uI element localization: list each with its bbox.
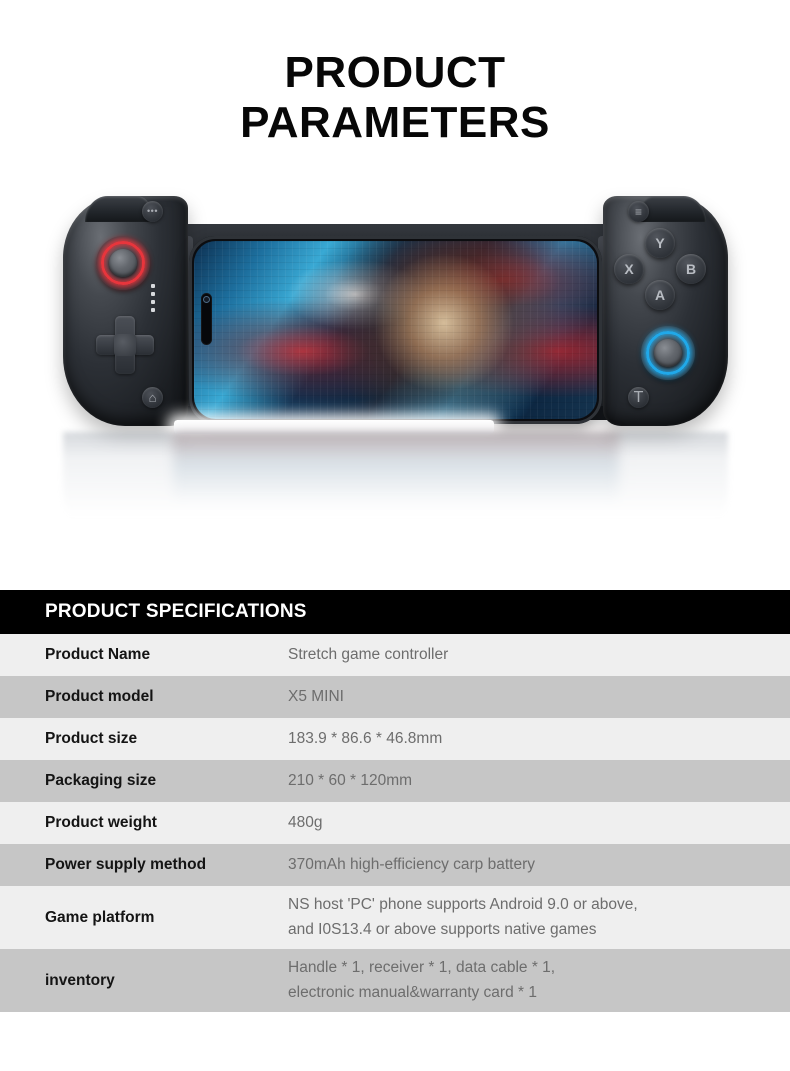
product-reflection — [63, 432, 728, 550]
spec-table-header: PRODUCT SPECIFICATIONS — [0, 590, 790, 634]
spec-value: X5 MINI — [288, 685, 344, 709]
spec-value-line: NS host 'PC' phone supports Android 9.0 … — [288, 893, 638, 917]
mounted-phone — [189, 236, 602, 424]
led-dot — [151, 292, 155, 296]
dpad-center — [114, 334, 136, 356]
spec-table-header-label: PRODUCT SPECIFICATIONS — [45, 601, 307, 623]
screen-pixel-overlay — [194, 241, 597, 419]
table-row: Packaging size 210 * 60 * 120mm — [0, 760, 790, 802]
spec-value-line: and I0S13.4 or above supports native gam… — [288, 918, 638, 942]
table-row: inventory Handle * 1, receiver * 1, data… — [0, 949, 790, 1012]
face-button-cluster: Y X B A — [614, 228, 706, 310]
led-dot — [151, 284, 155, 288]
battery-led-indicator — [151, 284, 155, 312]
product-specifications-table: PRODUCT SPECIFICATIONS Product Name Stre… — [0, 590, 790, 1012]
table-row: Power supply method 370mAh high-efficien… — [0, 844, 790, 886]
spec-label: Game platform — [45, 909, 288, 927]
spec-value-line: X5 MINI — [288, 685, 344, 709]
table-row: Product size 183.9 * 86.6 * 46.8mm — [0, 718, 790, 760]
left-stick-cap — [109, 249, 137, 277]
phone-game-screen — [194, 241, 597, 419]
spec-value: Handle * 1, receiver * 1, data cable * 1… — [288, 956, 555, 1004]
spec-value-line: 210 * 60 * 120mm — [288, 769, 412, 793]
spec-value: Stretch game controller — [288, 643, 448, 667]
spec-value-line: Handle * 1, receiver * 1, data cable * 1… — [288, 956, 555, 980]
home-icon[interactable] — [142, 387, 163, 408]
table-row: Product Name Stretch game controller — [0, 634, 790, 676]
spec-label: Power supply method — [45, 856, 288, 874]
turbo-button[interactable]: T — [628, 387, 649, 408]
button-a[interactable]: A — [645, 280, 675, 310]
options-dots-icon[interactable] — [142, 201, 163, 222]
led-dot — [151, 308, 155, 312]
game-controller: T Y X B A — [63, 188, 728, 438]
right-analog-stick[interactable] — [641, 326, 695, 380]
page-title-line-2: PARAMETERS — [0, 98, 790, 148]
phone-camera-notch — [201, 293, 212, 345]
spec-label: Product size — [45, 730, 288, 748]
spec-label: inventory — [45, 972, 288, 990]
spec-label: Product Name — [45, 646, 288, 664]
spec-label: Product model — [45, 688, 288, 706]
page-title-line-1: PRODUCT — [0, 48, 790, 98]
spec-value: NS host 'PC' phone supports Android 9.0 … — [288, 893, 638, 941]
spec-value-line: Stretch game controller — [288, 643, 448, 667]
controller-left-grip — [63, 196, 188, 426]
reflection-color-tint — [173, 432, 619, 502]
shoulder-button-right[interactable] — [640, 196, 706, 222]
dpad[interactable] — [96, 316, 154, 374]
spec-label: Product weight — [45, 814, 288, 832]
spec-value-line: electronic manual&warranty card * 1 — [288, 981, 555, 1005]
button-x[interactable]: X — [614, 254, 644, 284]
spec-value: 210 * 60 * 120mm — [288, 769, 412, 793]
menu-icon[interactable] — [628, 201, 649, 222]
spec-value-line: 183.9 * 86.6 * 46.8mm — [288, 727, 442, 751]
spec-value-line: 370mAh high-efficiency carp battery — [288, 853, 535, 877]
button-y[interactable]: Y — [645, 228, 675, 258]
shoulder-button-left[interactable] — [85, 196, 151, 222]
table-row: Product weight 480g — [0, 802, 790, 844]
spec-value: 183.9 * 86.6 * 46.8mm — [288, 727, 442, 751]
page-title: PRODUCT PARAMETERS — [0, 48, 790, 148]
spec-value: 480g — [288, 811, 322, 835]
right-stick-cap — [654, 339, 682, 367]
spec-value: 370mAh high-efficiency carp battery — [288, 853, 535, 877]
table-row: Product model X5 MINI — [0, 676, 790, 718]
table-row: Game platform NS host 'PC' phone support… — [0, 886, 790, 949]
spec-value-line: 480g — [288, 811, 322, 835]
led-dot — [151, 300, 155, 304]
product-hero-image: T Y X B A — [0, 170, 790, 570]
button-b[interactable]: B — [676, 254, 706, 284]
spec-label: Packaging size — [45, 772, 288, 790]
left-analog-stick[interactable] — [96, 236, 150, 290]
